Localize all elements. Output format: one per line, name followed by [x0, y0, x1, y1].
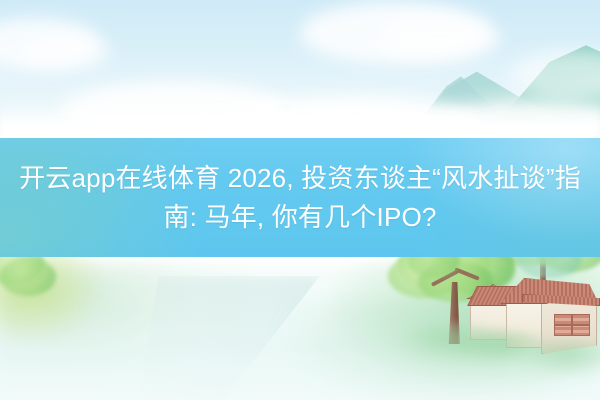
banner-title: 开云app在线体育 2026, 投资东谈主“风水扯谈”指 南: 马年, 你有几个… — [0, 138, 600, 257]
window-mullion — [554, 324, 590, 326]
foliage-icon — [0, 258, 56, 296]
cloud-icon — [380, 16, 500, 60]
shrub — [396, 322, 506, 362]
cloud-icon — [20, 34, 110, 70]
title-line-1: 开云app在线体育 2026, 投资东谈主“风水扯谈”指 — [19, 160, 581, 196]
promo-banner: 开云app在线体育 2026, 投资东谈主“风水扯谈”指 南: 马年, 你有几个… — [0, 0, 600, 400]
title-line-2: 南: 马年, 你有几个IPO? — [163, 199, 436, 235]
